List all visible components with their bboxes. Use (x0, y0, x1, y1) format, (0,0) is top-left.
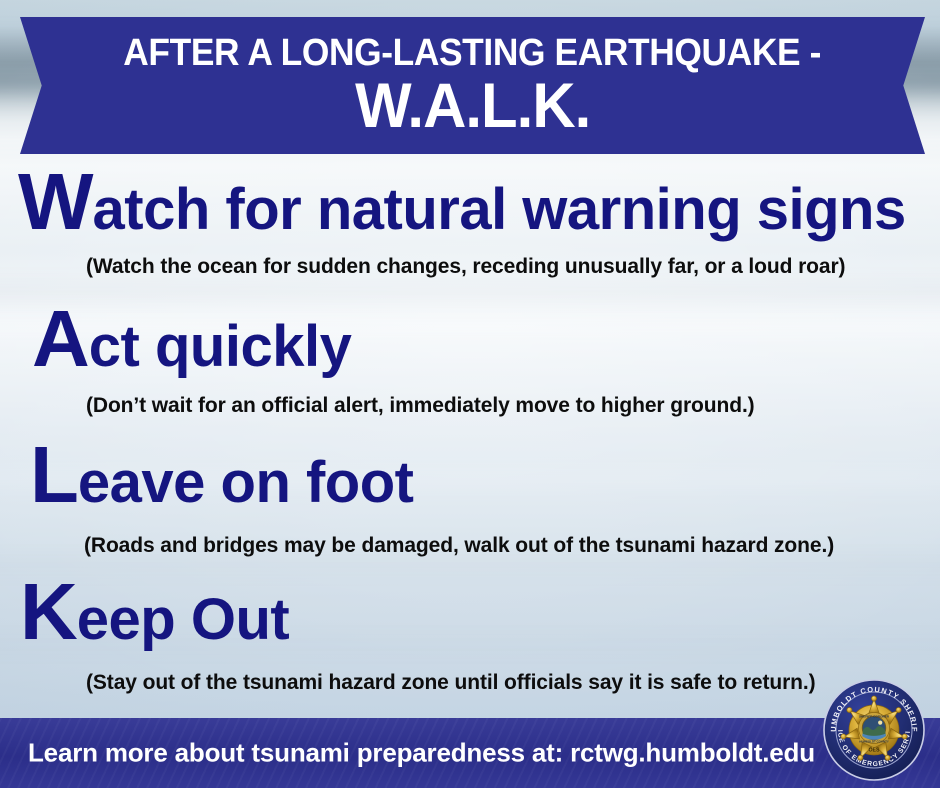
badge-star-bottom-text: HUMBOLDT COUNTY (859, 740, 889, 744)
walk-item-heading-rest: ct quickly (89, 314, 352, 379)
walk-item-heading: Watch for natural warning signs (18, 162, 940, 242)
footer-bar: Learn more about tsunami preparedness at… (0, 718, 940, 788)
drop-cap-a: A (32, 294, 89, 383)
header-title-line2: W.A.L.K. (355, 75, 590, 138)
badge-star-top-text: SHERIFF-CORONER (859, 715, 890, 719)
footer-link-text[interactable]: Learn more about tsunami preparedness at… (28, 738, 815, 769)
header-ribbon: AFTER A LONG-LASTING EARTHQUAKE - W.A.L.… (20, 17, 925, 154)
drop-cap-w: W (18, 157, 93, 246)
walk-item-heading-rest: eave on foot (78, 450, 414, 515)
tsunami-walk-poster: AFTER A LONG-LASTING EARTHQUAKE - W.A.L.… (0, 0, 940, 788)
walk-item-act: Act quickly (Don’t wait for an official … (0, 299, 940, 416)
walk-item-subtext: (Roads and bridges may be damaged, walk … (84, 535, 940, 556)
walk-item-leave: Leave on foot (Roads and bridges may be … (0, 435, 940, 556)
walk-item-heading: Keep Out (20, 572, 940, 652)
walk-item-watch: Watch for natural warning signs (Watch t… (0, 162, 940, 277)
walk-item-heading-rest: eep Out (77, 587, 289, 652)
drop-cap-k: K (20, 567, 77, 656)
walk-item-heading: Act quickly (32, 299, 940, 379)
walk-item-subtext: (Don’t wait for an official alert, immed… (86, 395, 940, 416)
drop-cap-l: L (30, 430, 78, 519)
walk-items-list: Watch for natural warning signs (Watch t… (0, 158, 940, 718)
walk-item-heading-rest: atch for natural warning signs (93, 177, 906, 242)
walk-item-subtext: (Watch the ocean for sudden changes, rec… (86, 256, 940, 277)
header-title-line1: AFTER A LONG-LASTING EARTHQUAKE - (124, 34, 822, 72)
badge-star-number: OES (869, 748, 880, 754)
walk-item-heading: Leave on foot (30, 435, 940, 515)
walk-item-subtext: (Stay out of the tsunami hazard zone unt… (86, 672, 940, 693)
humboldt-county-sheriff-oes-badge-icon: HUMBOLDT COUNTY SHERIFF OFFICE OF EMERGE… (822, 678, 926, 782)
walk-item-keep-out: Keep Out (Stay out of the tsunami hazard… (0, 572, 940, 693)
